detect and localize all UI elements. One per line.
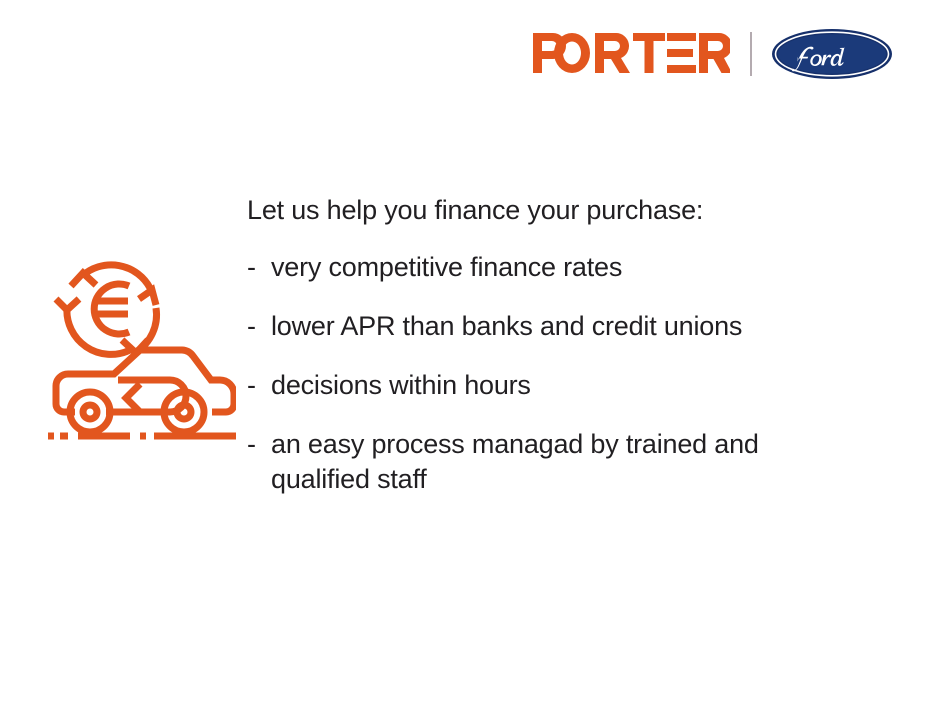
- porter-logo: [533, 35, 730, 73]
- bullet-marker: -: [247, 427, 271, 462]
- car-finance-euro-glyph: [44, 252, 236, 448]
- bullet-marker: -: [247, 250, 271, 285]
- list-item-label: an easy process managad by trained and q…: [271, 427, 851, 497]
- list-item: - very competitive finance rates: [247, 250, 887, 285]
- car-finance-euro-icon: [44, 252, 236, 448]
- finance-copy-block: Let us help you finance your purchase: -…: [247, 193, 887, 497]
- benefits-list: - very competitive finance rates - lower…: [247, 250, 887, 497]
- list-item: - lower APR than banks and credit unions: [247, 309, 887, 344]
- bullet-marker: -: [247, 309, 271, 344]
- brand-divider: [750, 32, 752, 76]
- lead-line: Let us help you finance your purchase:: [247, 193, 887, 227]
- brand-lockup: [533, 24, 893, 84]
- porter-wordmark-icon: [533, 33, 730, 73]
- list-item-label: very competitive finance rates: [271, 250, 851, 285]
- list-item-label: lower APR than banks and credit unions: [271, 309, 851, 344]
- ford-logo-icon: [771, 28, 893, 80]
- list-item: - an easy process managad by trained and…: [247, 427, 887, 497]
- list-item-label: decisions within hours: [271, 368, 851, 403]
- bullet-marker: -: [247, 368, 271, 403]
- list-item: - decisions within hours: [247, 368, 887, 403]
- slide-canvas: Let us help you finance your purchase: -…: [0, 0, 938, 704]
